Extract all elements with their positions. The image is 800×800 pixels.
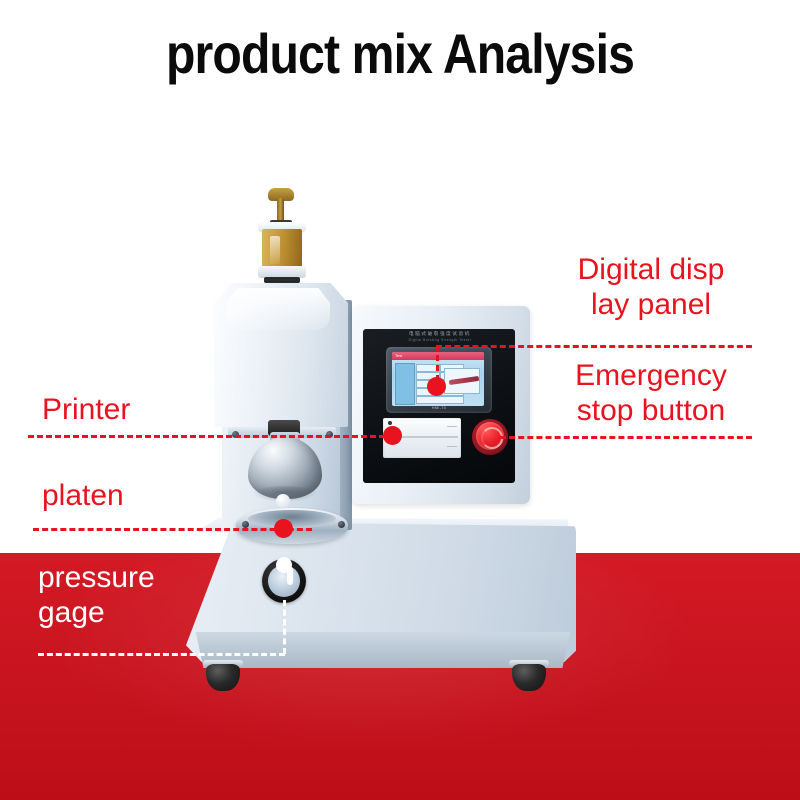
glass-jar-highlight (270, 236, 280, 264)
label-pressure-gage: pressure gage (38, 560, 268, 630)
pressure-gauge (262, 559, 306, 603)
leader-line-digital-display (436, 345, 752, 348)
leader-line-digital-display-drop (436, 345, 439, 381)
screenshot-canvas: product mix Analysis (0, 0, 800, 800)
label-digital-display-panel: Digital disp lay panel (540, 252, 762, 322)
tower-head-gloss (226, 288, 330, 330)
control-panel-heading: 电脑式破裂强度试验机 Digital Bursting Strength Tes… (374, 331, 506, 345)
lcd-sidebar-col (395, 363, 415, 405)
printer-status-led (388, 421, 392, 425)
rubber-foot-left (206, 664, 240, 691)
label-printer: Printer (42, 392, 262, 427)
lcd-cell (416, 396, 464, 404)
leader-line-emergency-stop (500, 436, 752, 439)
leader-line-pressure-gage (38, 653, 285, 656)
printer-tick (447, 446, 457, 447)
label-platen: platen (42, 478, 262, 513)
glass-jar (262, 229, 302, 271)
platen-bolt-right (338, 521, 345, 528)
leader-line-pressure-gage-drop (283, 600, 286, 654)
glass-jar-base (264, 277, 300, 283)
panel-subheading-en: Digital Bursting Strength Tester (374, 337, 506, 343)
panel-heading-cn: 电脑式破裂强度试验机 (409, 331, 471, 336)
label-emergency-stop-button: Emergency stop button (540, 358, 762, 428)
platen-bolt-left (242, 521, 249, 528)
pressure-gauge-highlight (276, 557, 292, 573)
printer-tick (447, 426, 457, 427)
leader-line-printer (28, 435, 394, 438)
leader-line-platen (33, 528, 312, 531)
marker-dot-printer (383, 426, 402, 445)
marker-dot-platen (274, 519, 293, 538)
rubber-foot-right (512, 664, 546, 691)
marker-dot-digital-display (427, 377, 446, 396)
lcd-header-label: Test (395, 353, 402, 358)
lcd-brand-label: HMI-70 (420, 406, 458, 410)
specimen-diaphragm (276, 494, 290, 508)
